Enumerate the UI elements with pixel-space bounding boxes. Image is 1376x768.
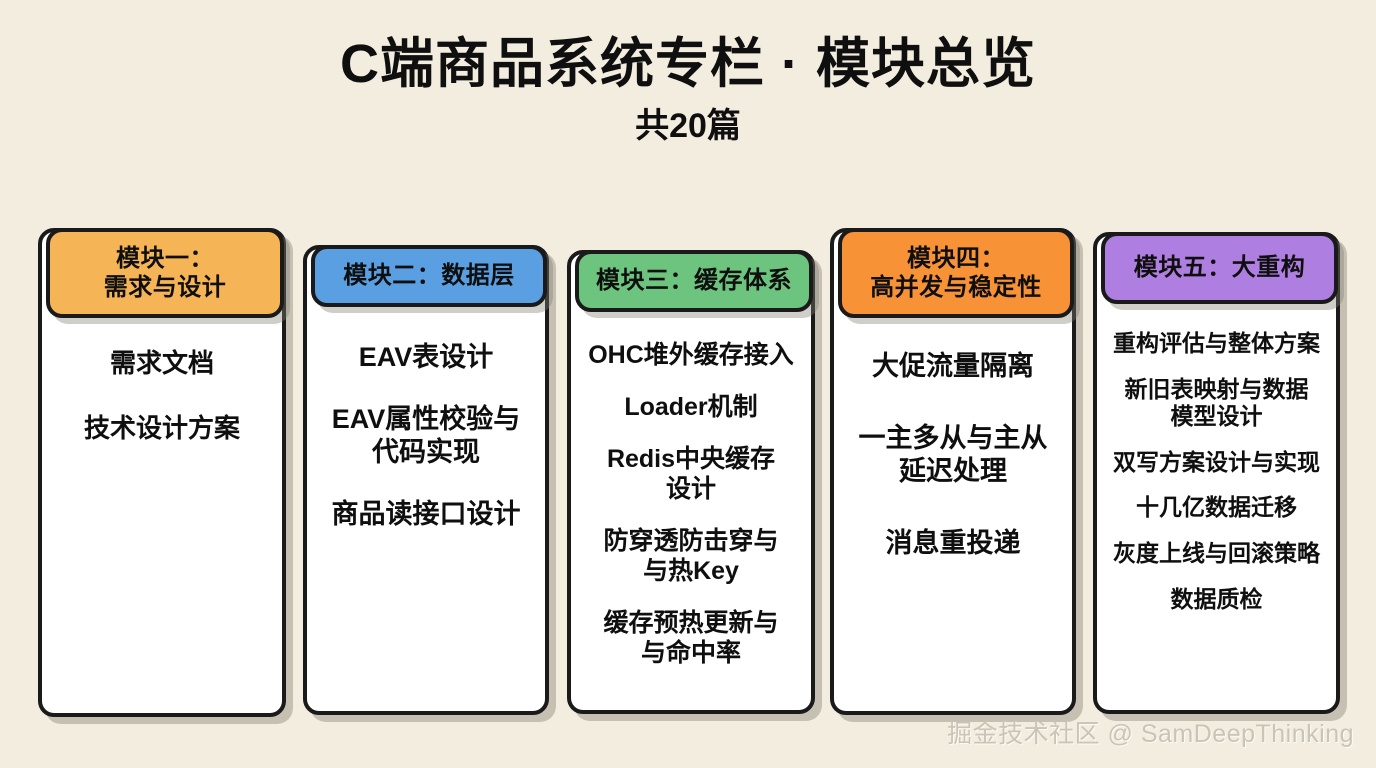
list-item[interactable]: 重构评估与整体方案 bbox=[1097, 330, 1336, 358]
module-board: 模块一： 需求与设计 需求文档 技术设计方案 模块二：数据层 EAV表设计 EA… bbox=[0, 0, 1376, 768]
module-header-4[interactable]: 模块四： 高并发与稳定性 bbox=[838, 228, 1074, 318]
module-column-1: 模块一： 需求与设计 需求文档 技术设计方案 bbox=[38, 228, 286, 717]
list-item[interactable]: EAV表设计 bbox=[307, 341, 545, 373]
list-item[interactable]: 缓存预热更新与 与命中率 bbox=[571, 608, 811, 668]
list-item[interactable]: 技术设计方案 bbox=[42, 413, 282, 444]
module-column-4: 模块四： 高并发与稳定性 大促流量隔离 一主多从与主从 延迟处理 消息重投递 bbox=[830, 228, 1076, 715]
list-item[interactable]: OHC堆外缓存接入 bbox=[571, 340, 811, 370]
list-item[interactable]: 数据质检 bbox=[1097, 586, 1336, 614]
list-item[interactable]: 大促流量隔离 bbox=[834, 350, 1072, 382]
list-item[interactable]: 十几亿数据迁移 bbox=[1097, 494, 1336, 522]
watermark: 掘金技术社区 @ SamDeepThinking bbox=[947, 714, 1354, 750]
module-header-2[interactable]: 模块二：数据层 bbox=[311, 245, 547, 307]
list-item[interactable]: 需求文档 bbox=[42, 348, 282, 379]
list-item[interactable]: Redis中央缓存 设计 bbox=[571, 444, 811, 504]
module-column-5: 模块五：大重构 重构评估与整体方案 新旧表映射与数据 模型设计 双写方案设计与实… bbox=[1093, 232, 1340, 714]
list-item[interactable]: 消息重投递 bbox=[834, 527, 1072, 559]
module-header-3[interactable]: 模块三：缓存体系 bbox=[575, 250, 813, 312]
list-item[interactable]: 商品读接口设计 bbox=[307, 498, 545, 530]
module-header-label-2: 模块二：数据层 bbox=[343, 261, 515, 290]
module-items-2: EAV表设计 EAV属性校验与 代码实现 商品读接口设计 bbox=[307, 313, 545, 711]
list-item[interactable]: Loader机制 bbox=[571, 392, 811, 422]
list-item[interactable]: 一主多从与主从 延迟处理 bbox=[834, 422, 1072, 487]
module-items-5: 重构评估与整体方案 新旧表映射与数据 模型设计 双写方案设计与实现 十几亿数据迁… bbox=[1097, 310, 1336, 710]
module-header-1[interactable]: 模块一： 需求与设计 bbox=[46, 228, 284, 318]
list-item[interactable]: 灰度上线与回滚策略 bbox=[1097, 540, 1336, 568]
module-header-5[interactable]: 模块五：大重构 bbox=[1101, 232, 1338, 304]
list-item[interactable]: 双写方案设计与实现 bbox=[1097, 449, 1336, 477]
module-items-3: OHC堆外缓存接入 Loader机制 Redis中央缓存 设计 防穿透防击穿与 … bbox=[571, 318, 811, 710]
list-item[interactable]: 防穿透防击穿与 与热Key bbox=[571, 526, 811, 586]
module-header-label-5: 模块五：大重构 bbox=[1134, 253, 1306, 282]
module-header-label-4: 模块四： 高并发与稳定性 bbox=[870, 244, 1042, 303]
module-column-2: 模块二：数据层 EAV表设计 EAV属性校验与 代码实现 商品读接口设计 bbox=[303, 245, 549, 715]
module-items-4: 大促流量隔离 一主多从与主从 延迟处理 消息重投递 bbox=[834, 324, 1072, 711]
module-header-label-3: 模块三：缓存体系 bbox=[596, 266, 792, 295]
list-item[interactable]: EAV属性校验与 代码实现 bbox=[307, 403, 545, 468]
list-item[interactable]: 新旧表映射与数据 模型设计 bbox=[1097, 376, 1336, 431]
module-header-label-1: 模块一： 需求与设计 bbox=[104, 244, 227, 303]
module-items-1: 需求文档 技术设计方案 bbox=[42, 324, 282, 713]
module-column-3: 模块三：缓存体系 OHC堆外缓存接入 Loader机制 Redis中央缓存 设计… bbox=[567, 250, 815, 714]
